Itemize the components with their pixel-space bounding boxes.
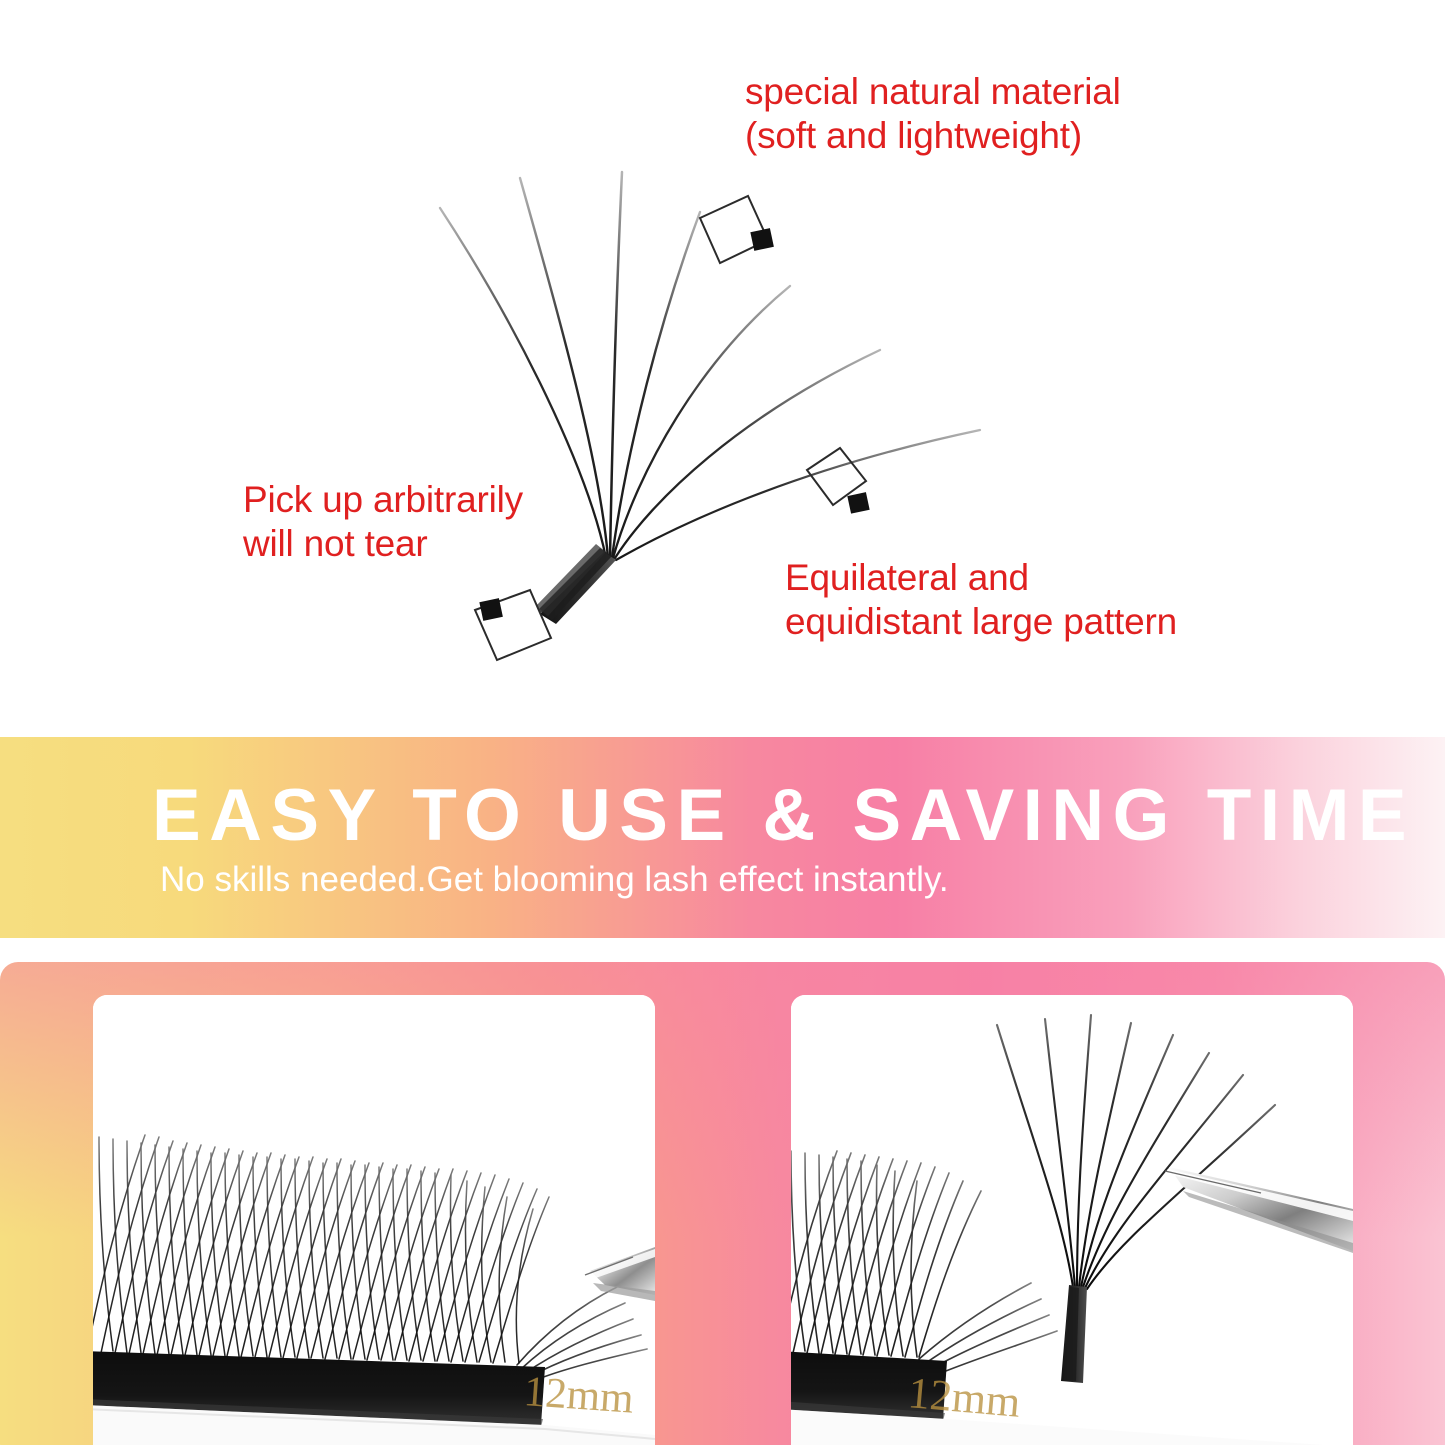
banner-content: EASY TO USE & SAVING TIME No skills need…: [0, 737, 1445, 938]
callout-special-natural-material: special natural material (soft and light…: [745, 70, 1121, 157]
lash-tray-photo: 12mm: [93, 995, 655, 1445]
svg-text:12mm: 12mm: [906, 1368, 1022, 1427]
easy-to-use-banner: EASY TO USE & SAVING TIME No skills need…: [0, 737, 1445, 938]
photo-card-lash-tray: 12mm: [93, 995, 655, 1445]
callout-pick-up-arbitrarily: Pick up arbitrarily will not tear: [243, 478, 523, 565]
lash-fan-diagram-section: special natural material (soft and light…: [0, 0, 1445, 737]
lash-fan-illustration: [0, 0, 1445, 737]
annotation-marker-middle: [807, 448, 870, 514]
annotation-marker-top: [700, 196, 774, 263]
lash-fan-photo: 12mm: [791, 995, 1353, 1445]
banner-subheadline: No skills needed.Get blooming lash effec…: [160, 862, 949, 897]
product-infographic: special natural material (soft and light…: [0, 0, 1445, 1445]
size-marking-left: 12mm: [522, 1368, 635, 1423]
svg-text:12mm: 12mm: [522, 1368, 635, 1423]
annotation-marker-base: [475, 590, 551, 660]
banner-headline: EASY TO USE & SAVING TIME: [152, 779, 1415, 852]
size-marking-right: 12mm: [906, 1368, 1022, 1427]
callout-equilateral-equidistant: Equilateral and equidistant large patter…: [785, 556, 1177, 643]
lash-base: [536, 544, 616, 624]
photo-card-lash-fan: 12mm: [791, 995, 1353, 1445]
product-photo-panel: 12mm: [0, 962, 1445, 1445]
